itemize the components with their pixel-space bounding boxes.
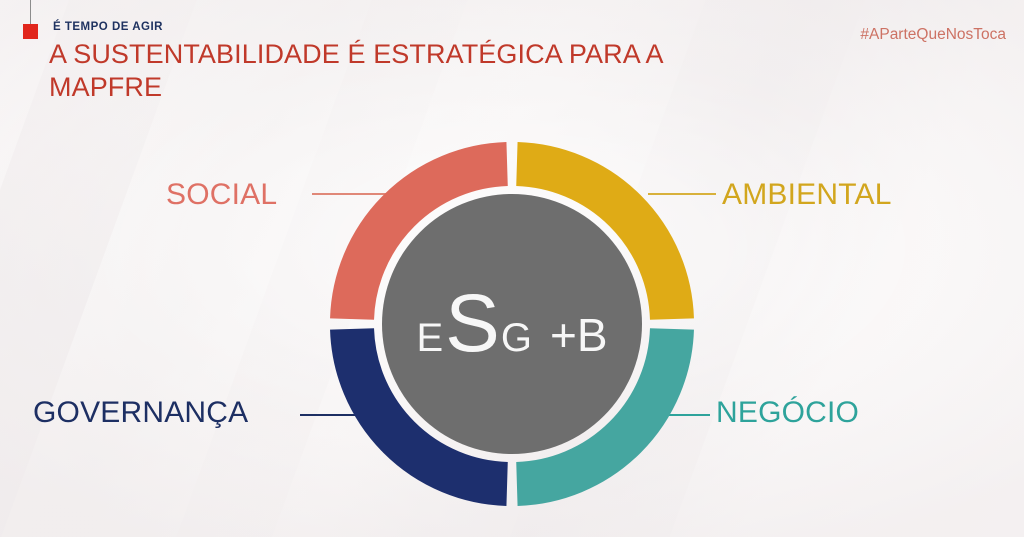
- segment-label-social[interactable]: SOCIAL: [166, 178, 277, 212]
- segment-label-negocio[interactable]: NEGÓCIO: [716, 396, 859, 430]
- slide-canvas: É TEMPO DE AGIR A SUSTENTABILIDADE É EST…: [0, 0, 1024, 537]
- esg-hub-circle: E S G +B: [382, 194, 642, 454]
- esg-hub-label: E S G +B: [416, 283, 607, 365]
- esg-letter-g: G: [501, 318, 532, 358]
- esg-letter-plus-b: +B: [550, 312, 608, 358]
- segment-label-governanca[interactable]: GOVERNANÇA: [33, 396, 248, 430]
- esg-donut-diagram: E S G +B SOCIAL AMBIENTAL NEGÓCIO GOVERN…: [0, 0, 1024, 537]
- esg-letter-s: S: [445, 283, 500, 365]
- esg-letter-e: E: [416, 318, 444, 358]
- segment-label-ambiental[interactable]: AMBIENTAL: [722, 178, 892, 212]
